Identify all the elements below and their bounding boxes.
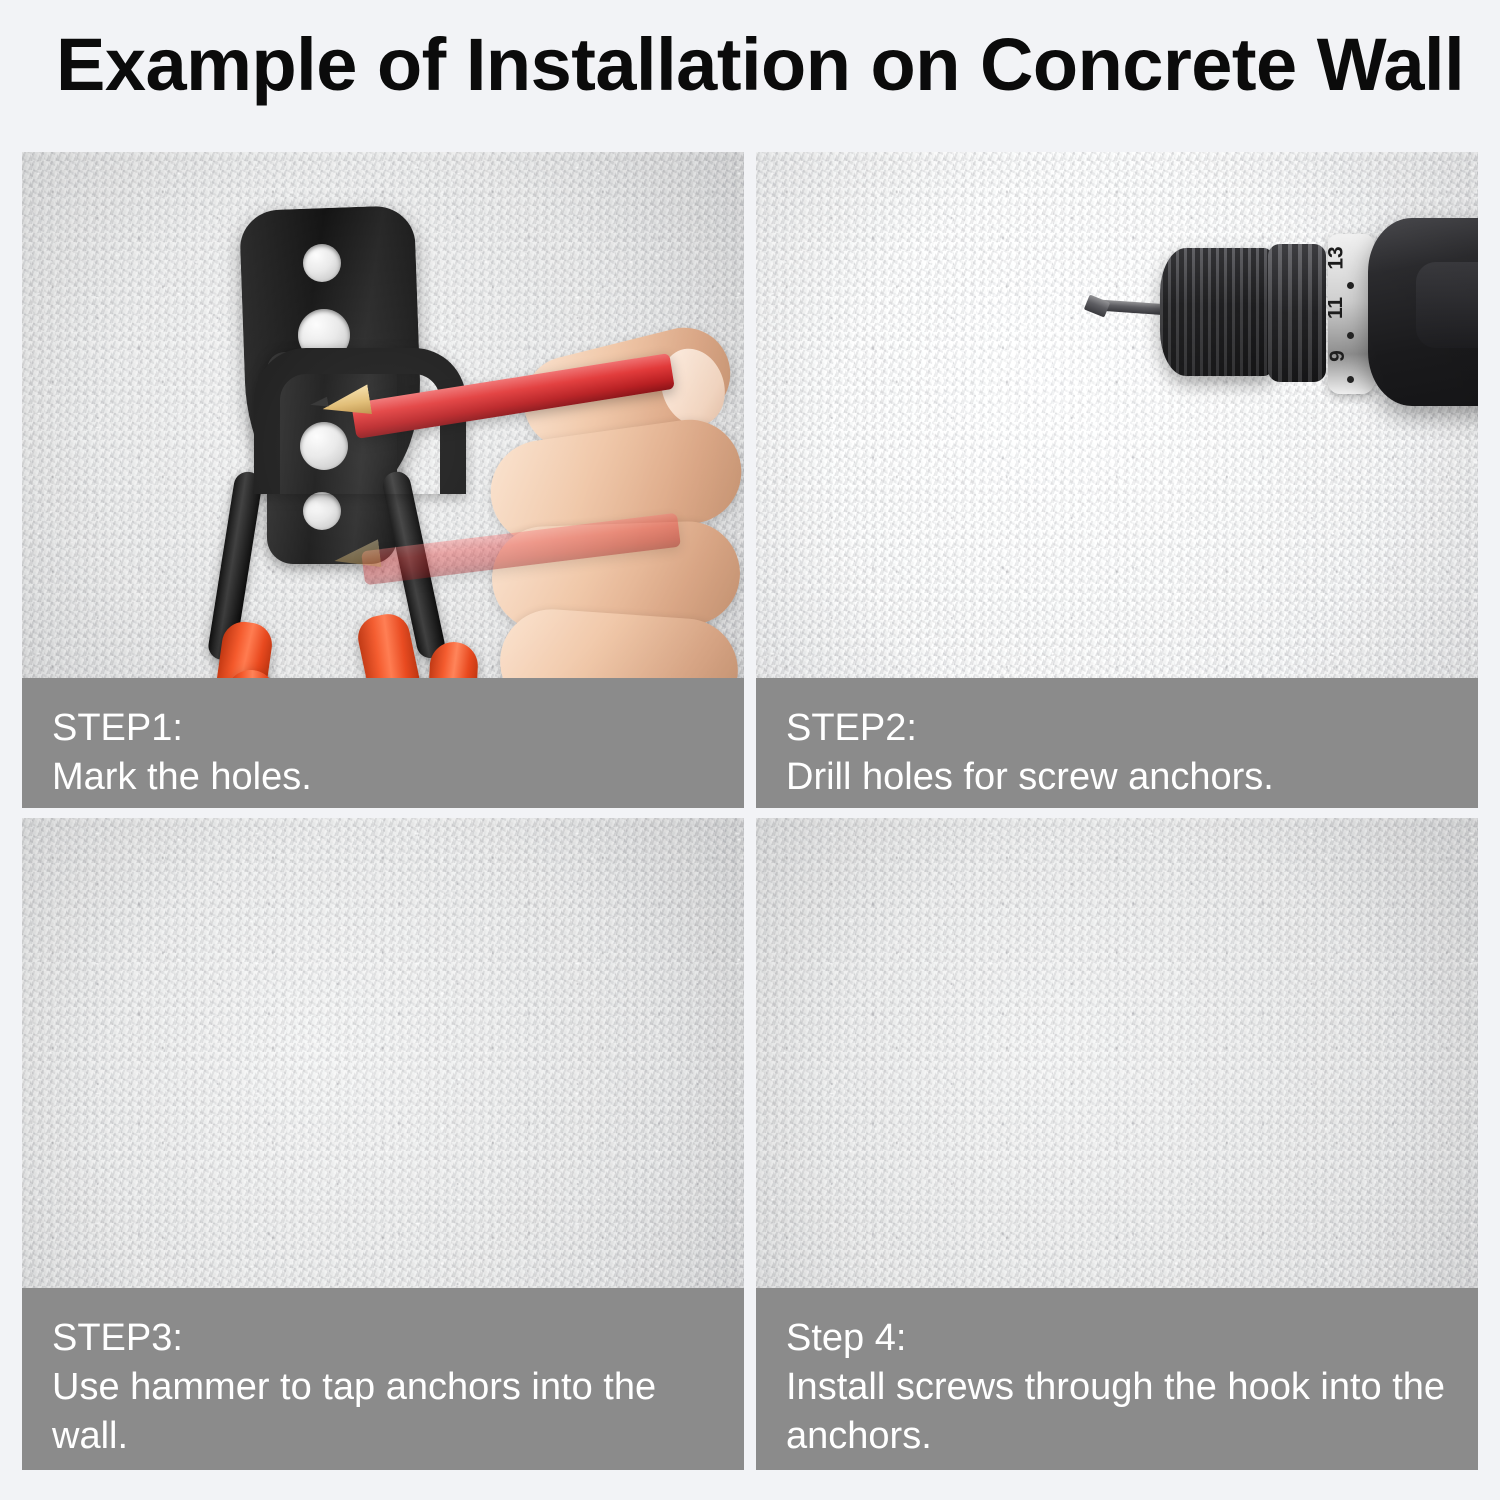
step-2-label: STEP2: — [786, 704, 1448, 753]
step-3-caption: STEP3: Use hammer to tap anchors into th… — [22, 1288, 744, 1470]
step-2-text: Drill holes for screw anchors. — [786, 753, 1448, 802]
step-1-text: Mark the holes. — [52, 753, 714, 802]
step-4-label: Step 4: — [786, 1314, 1448, 1363]
torque-dot — [1347, 332, 1354, 339]
step-1-caption: STEP1: Mark the holes. — [22, 678, 744, 808]
torque-dot — [1347, 282, 1354, 289]
torque-value-9: 9 — [1328, 350, 1350, 362]
step-3-label: STEP3: — [52, 1314, 714, 1363]
step-2-caption: STEP2: Drill holes for screw anchors. — [756, 678, 1478, 808]
torque-value-11: 11 — [1328, 297, 1348, 319]
step-3-text: Use hammer to tap anchors into the wall. — [52, 1363, 714, 1461]
drill-speed-panel — [1416, 262, 1478, 348]
torque-value-13: 13 — [1328, 246, 1349, 269]
step-panel-3: STEP3: Use hammer to tap anchors into th… — [22, 818, 744, 1470]
steps-grid: STEP1: Mark the holes. 13 11 9 — [22, 152, 1478, 1470]
step-panel-2: 13 11 9 — [756, 152, 1478, 808]
step-4-text: Install screws through the hook into the… — [786, 1363, 1448, 1461]
installation-guide-page: Example of Installation on Concrete Wall — [0, 0, 1500, 1500]
step-panel-4: Step 4: Install screws through the hook … — [756, 818, 1478, 1470]
page-title: Example of Installation on Concrete Wall — [56, 26, 1456, 104]
torque-dot — [1347, 376, 1354, 383]
drill-collar — [1268, 244, 1326, 382]
mounting-hole-4 — [303, 492, 341, 530]
step-4-caption: Step 4: Install screws through the hook … — [756, 1288, 1478, 1470]
step-1-label: STEP1: — [52, 704, 714, 753]
drill-chuck — [1160, 248, 1278, 376]
mounting-hole-1 — [303, 244, 341, 282]
step-panel-1: STEP1: Mark the holes. — [22, 152, 744, 808]
